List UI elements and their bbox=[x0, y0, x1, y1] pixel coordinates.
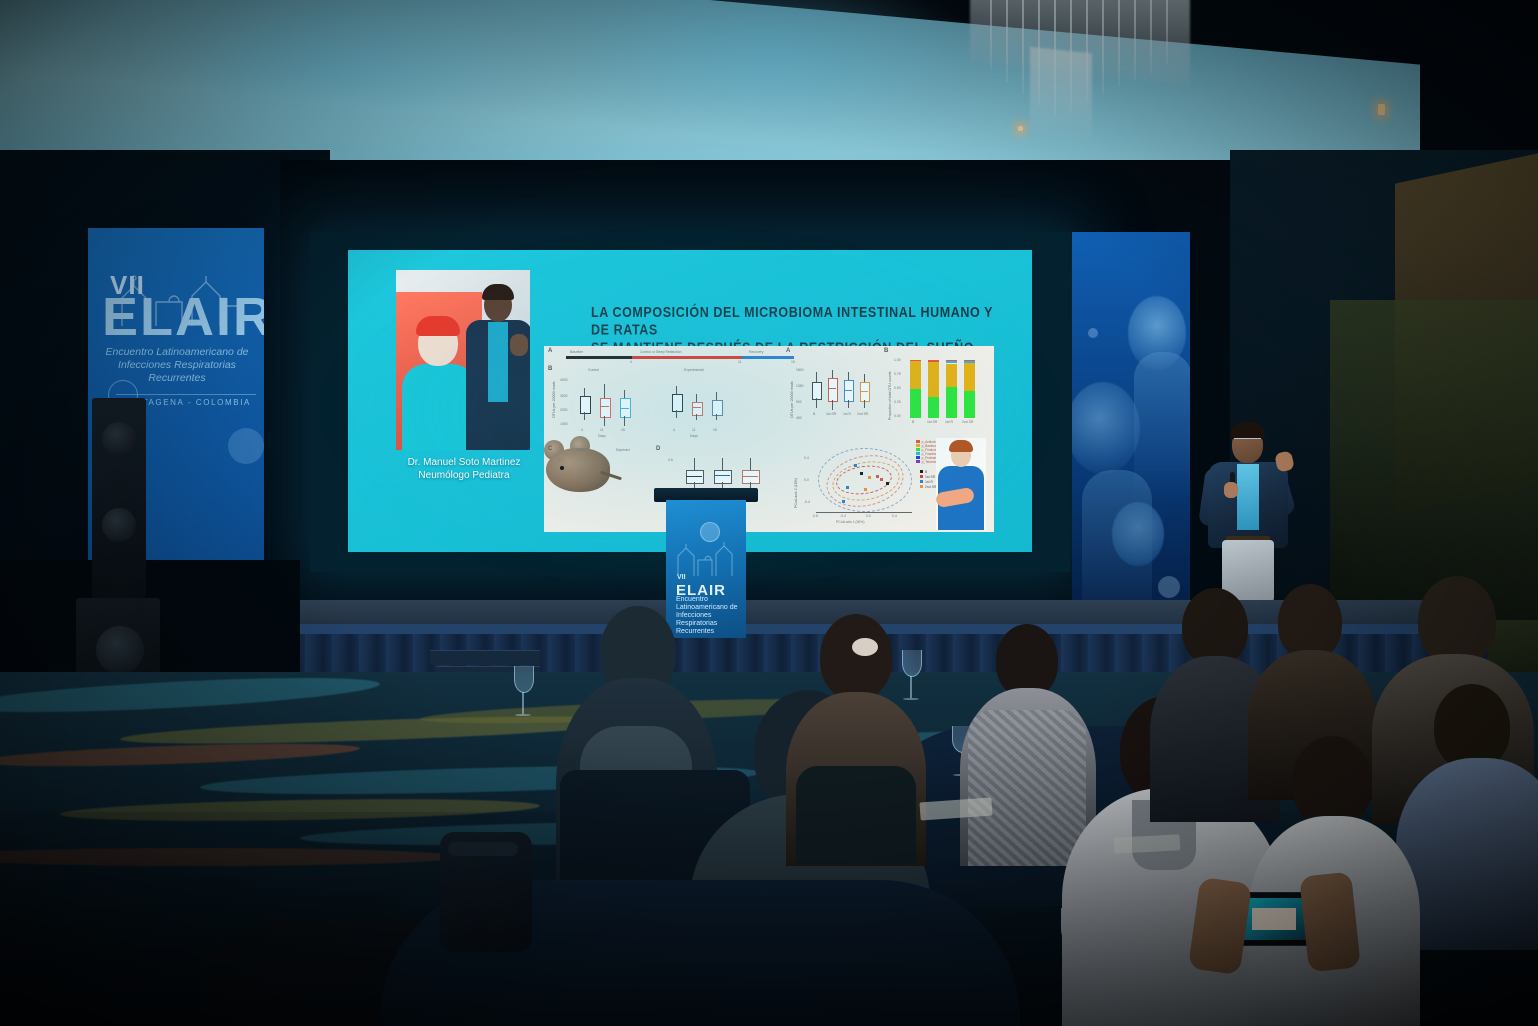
stock-photo-blue bbox=[936, 438, 986, 530]
live-camera-speaker bbox=[462, 278, 530, 450]
audience-member bbox=[790, 614, 920, 864]
slide-speaker-photo bbox=[396, 270, 530, 450]
stacked-bar bbox=[946, 360, 957, 418]
timeline-recovery bbox=[742, 356, 794, 359]
pcoa-legend: B1st SR1st R2nd SR bbox=[920, 460, 936, 480]
ceiling-glow-center bbox=[560, 0, 980, 130]
bar-segment bbox=[910, 389, 921, 418]
eyeglasses-icon bbox=[1234, 438, 1261, 445]
phone-slide-preview bbox=[1252, 908, 1296, 930]
banner-subtitle: Encuentro Latinoamericano de Infecciones… bbox=[104, 346, 250, 385]
rat-photo bbox=[542, 434, 616, 500]
bar-segment bbox=[964, 391, 975, 418]
legend-swatch bbox=[920, 485, 923, 488]
timeline-restriction bbox=[632, 356, 742, 359]
stacked-bar bbox=[910, 360, 921, 418]
legend-label: 2nd SR bbox=[925, 485, 936, 489]
scientific-figure: A Baseline Control or Sleep Restriction … bbox=[544, 346, 994, 532]
bar-segment bbox=[910, 360, 921, 361]
stacked-bar bbox=[964, 360, 975, 418]
panel-d-label: D bbox=[656, 446, 660, 452]
bar-segment bbox=[946, 361, 957, 363]
hand-right bbox=[1299, 872, 1361, 973]
bar-segment bbox=[928, 397, 939, 418]
hair-clip bbox=[852, 638, 878, 656]
panel-b-human-label: B bbox=[884, 348, 888, 354]
legend-swatch bbox=[920, 480, 923, 483]
stacked-bar-chart bbox=[910, 360, 982, 418]
timeline-baseline bbox=[566, 356, 632, 359]
legend-item: 2nd SR bbox=[920, 475, 936, 480]
slide-name-plate: Dr. Manuel Soto Martinez Neumólogo Pedia… bbox=[372, 456, 556, 482]
conference-photo-scene: LA COMPOSICIÓN DEL MICROBIOMA INTESTINAL… bbox=[0, 0, 1538, 1026]
slide-speaker-name: Dr. Manuel Soto Martinez bbox=[372, 456, 556, 469]
backpack bbox=[440, 832, 532, 952]
bar-segment bbox=[910, 361, 921, 389]
wine-glass bbox=[512, 666, 534, 728]
podium-edition: VII bbox=[677, 574, 686, 581]
panel-b-label: B bbox=[548, 366, 552, 372]
pcoa-plot: PCoA axis 2 (18%) 0.4 0.0 -0.4 bbox=[796, 442, 956, 528]
bar-segment bbox=[946, 387, 957, 418]
stacked-bar bbox=[928, 360, 939, 418]
ceiling-downlight bbox=[1018, 126, 1023, 131]
panel-c-label: C bbox=[548, 446, 552, 452]
audience-member bbox=[1406, 684, 1538, 944]
bar-segment bbox=[964, 360, 975, 361]
bar-segment bbox=[946, 364, 957, 387]
bar-segment bbox=[946, 360, 957, 361]
stage-speaker bbox=[1196, 424, 1300, 600]
banner-acronym: ELAIR bbox=[102, 290, 264, 344]
slide-speaker-role: Neumólogo Pediatra bbox=[372, 469, 556, 482]
panel-a-human-label: A bbox=[786, 348, 790, 354]
panel-a-label: A bbox=[548, 348, 552, 354]
podium-skyline-icon bbox=[672, 534, 740, 578]
ceiling-downlight bbox=[1378, 104, 1385, 115]
bar-segment bbox=[964, 363, 975, 391]
audience-member bbox=[962, 624, 1092, 864]
legend-label: 1st R bbox=[925, 480, 933, 484]
bar-segment bbox=[928, 362, 939, 397]
ceiling-glow-left bbox=[120, 0, 540, 140]
bar-segment bbox=[928, 360, 939, 362]
bar-segment bbox=[964, 361, 975, 363]
